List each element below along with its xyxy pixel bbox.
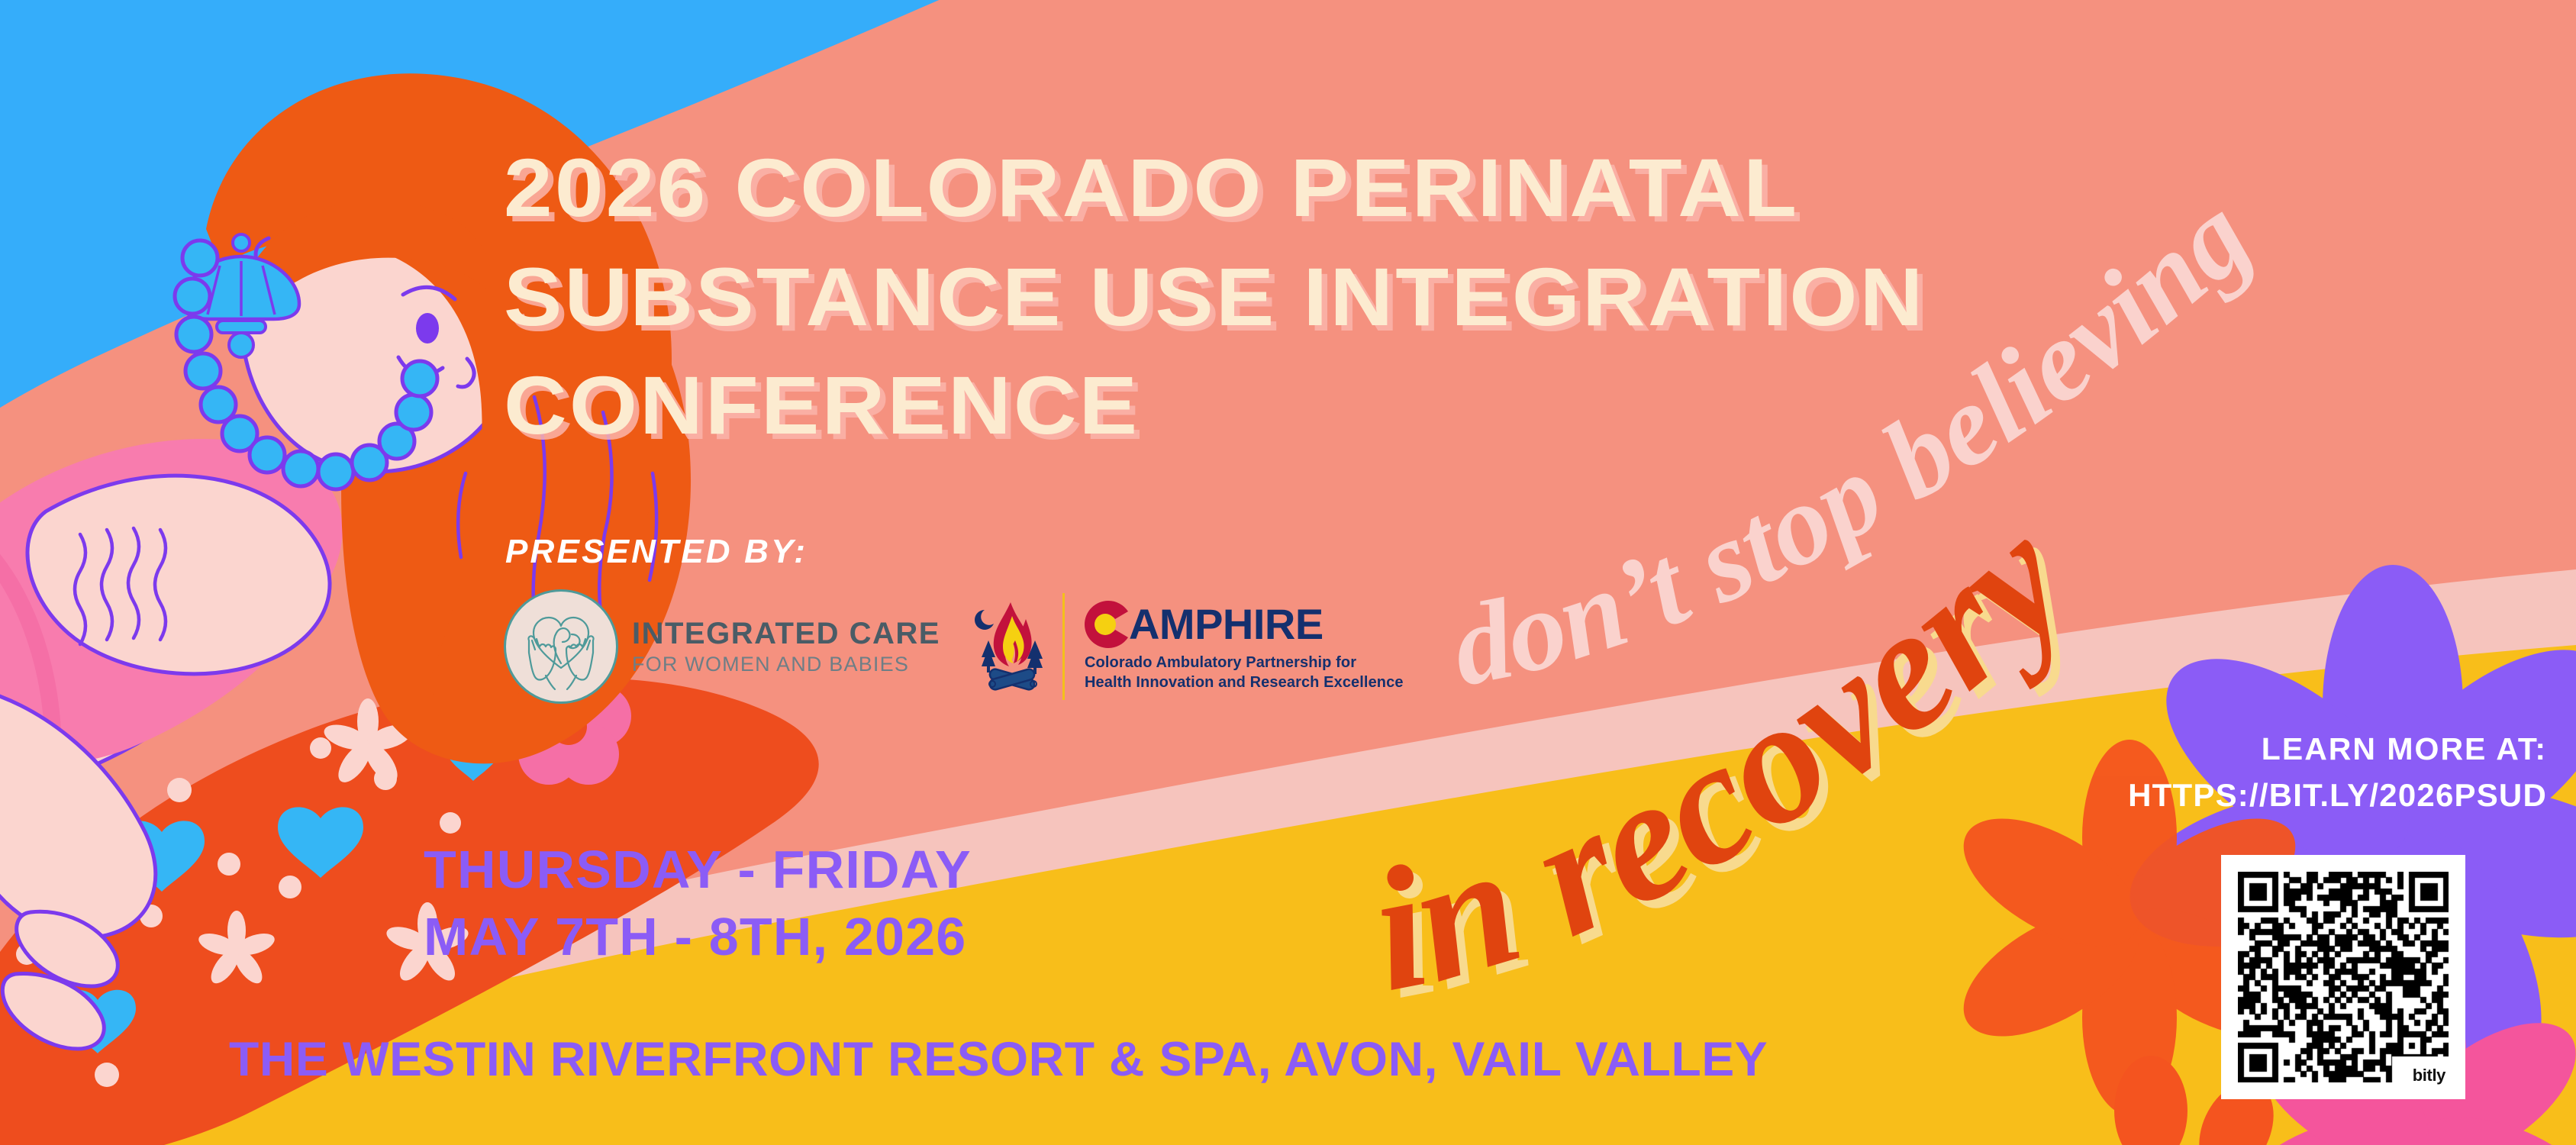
campfire-icon: [969, 593, 1052, 700]
event-date-range: MAY 7TH - 8TH, 2026: [424, 903, 972, 970]
conference-banner: 2026 COLORADO PERINATAL SUBSTANCE USE IN…: [0, 0, 2576, 1145]
camphire-rest-text: AMPHIRE: [1129, 603, 1323, 646]
integrated-care-wordmark: INTEGRATED CARE FOR WOMEN AND BABIES: [632, 618, 940, 675]
qr-code-card[interactable]: bitly: [2221, 855, 2465, 1099]
camphire-sub-line2: Health Innovation and Research Excellenc…: [1085, 673, 1404, 693]
logo-divider: [1062, 593, 1065, 700]
integrated-care-line2: FOR WOMEN AND BABIES: [632, 653, 940, 675]
camphire-wordmark: AMPHIRE Colorado Ambulatory Partnership …: [1085, 601, 1404, 692]
title-line-2: SUBSTANCE USE INTEGRATION: [504, 243, 2122, 352]
conference-title: 2026 COLORADO PERINATAL SUBSTANCE USE IN…: [504, 134, 2030, 460]
bitly-brand-label: bitly: [2413, 1066, 2445, 1085]
camphire-sub-line1: Colorado Ambulatory Partnership for: [1085, 653, 1404, 673]
event-days: THURSDAY - FRIDAY: [424, 836, 972, 903]
qr-code-image[interactable]: [2238, 872, 2449, 1082]
camphire-logo: AMPHIRE Colorado Ambulatory Partnership …: [969, 593, 1404, 700]
learn-more-url[interactable]: HTTPS://BIT.LY/2026PSUD: [2128, 777, 2547, 814]
title-line-3: CONFERENCE: [504, 351, 2122, 460]
integrated-care-line1: INTEGRATED CARE: [632, 618, 940, 650]
learn-more-label: LEARN MORE AT:: [2128, 731, 2547, 767]
camphire-title: AMPHIRE: [1085, 601, 1404, 648]
colorado-c-icon: [1085, 601, 1132, 648]
event-dates: THURSDAY - FRIDAY MAY 7TH - 8TH, 2026: [424, 836, 972, 970]
integrated-care-logo: INTEGRATED CARE FOR WOMEN AND BABIES: [504, 589, 940, 704]
learn-more-block: LEARN MORE AT: HTTPS://BIT.LY/2026PSUD: [2128, 731, 2547, 814]
hands-cradling-heart-icon: [504, 589, 618, 704]
camphire-subtitle: Colorado Ambulatory Partnership for Heal…: [1085, 653, 1404, 692]
presented-by-label: PRESENTED BY:: [505, 533, 808, 571]
event-venue: THE WESTIN RIVERFRONT RESORT & SPA, AVON…: [229, 1032, 1768, 1087]
presenter-logos: INTEGRATED CARE FOR WOMEN AND BABIES: [504, 589, 1404, 704]
title-line-1: 2026 COLORADO PERINATAL: [504, 134, 2122, 243]
